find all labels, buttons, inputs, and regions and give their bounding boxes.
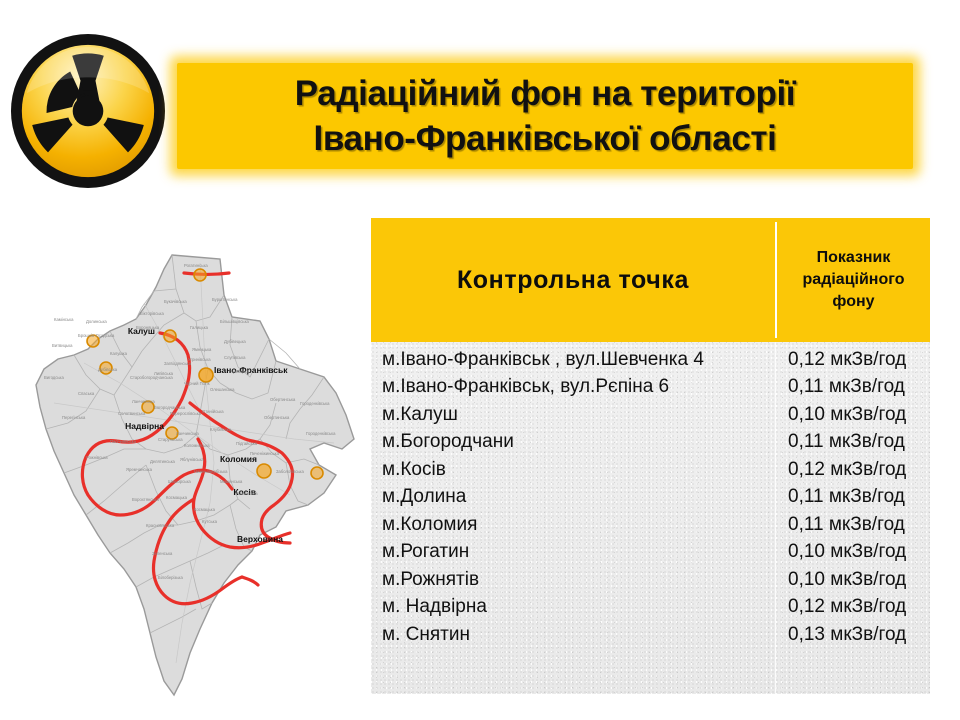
svg-text:Перегінська: Перегінська (62, 415, 86, 420)
svg-text:Вигодська: Вигодська (44, 375, 64, 380)
cell-control-point: м.Івано-Франківськ, вул.Рєпіна 6 (371, 376, 775, 398)
svg-text:Загвіздянська: Загвіздянська (164, 361, 192, 366)
cell-control-point: м. Надвірна (371, 596, 775, 618)
svg-text:Галицька: Галицька (190, 325, 209, 330)
cell-control-point: м.Івано-Франківськ , вул.Шевченка 4 (371, 349, 775, 371)
svg-text:Богородчанська: Богородчанська (154, 405, 186, 410)
svg-text:Вороняцька: Вороняцька (136, 325, 160, 330)
svg-text:Білоберізька: Білоберізька (158, 575, 183, 580)
table-row: м.Богородчани 0,11 мкЗв/год (371, 429, 930, 457)
cell-radiation-value: 0,12 мкЗв/год (775, 459, 930, 481)
cell-radiation-value: 0,10 мкЗв/год (775, 541, 930, 563)
page-title-line-1: Радіаційний фон на території (295, 71, 795, 116)
svg-text:Пасічнянська: Пасічнянська (110, 439, 137, 444)
svg-text:Брошнів-Осадська: Брошнів-Осадська (78, 333, 115, 338)
cell-control-point: м.Рожнятів (371, 569, 775, 591)
svg-text:Ворохтянська: Ворохтянська (132, 497, 159, 502)
svg-text:Яблунівська: Яблунівська (180, 457, 204, 462)
svg-text:Отинійська: Отинійська (202, 409, 224, 414)
page-title-line-2: Івано-Франківської області (314, 116, 777, 161)
cell-control-point: м. Снятин (371, 624, 775, 646)
map-label-ivano-frankivsk: Івано-Франківськ (214, 365, 288, 375)
cell-control-point: м.Косів (371, 459, 775, 481)
svg-text:Спаська: Спаська (78, 391, 95, 396)
svg-text:Кутська: Кутська (202, 519, 218, 524)
cell-radiation-value: 0,11 мкЗв/год (775, 431, 930, 453)
svg-text:Більшівцівська: Більшівцівська (220, 319, 250, 324)
radiation-logo (9, 32, 167, 190)
svg-text:Городенківська: Городенківська (300, 401, 330, 406)
page-title: Радіаційний фон на території Івано-Франк… (177, 63, 913, 169)
svg-text:Букачівська: Букачівська (164, 299, 187, 304)
svg-text:Ланчинська: Ланчинська (176, 431, 199, 436)
map-graphic: Калуш Івано-Франківськ Надвірна Коломия … (24, 243, 366, 705)
svg-text:Обертинська: Обертинська (270, 397, 296, 402)
cell-radiation-value: 0,10 мкЗв/год (775, 404, 930, 426)
region-map: Калуш Івано-Франківськ Надвірна Коломия … (24, 243, 366, 705)
table-row: м.Івано-Франківськ , вул.Шевченка 4 0,12… (371, 346, 930, 374)
table-row: м.Івано-Франківськ, вул.Рєпіна 6 0,11 мк… (371, 374, 930, 402)
svg-text:Чорний Потік: Чорний Потік (184, 381, 210, 386)
svg-text:Бурштинська: Бурштинська (212, 297, 238, 302)
table-row: м.Косів 0,12 мкЗв/год (371, 456, 930, 484)
svg-text:Долинська: Долинська (86, 319, 107, 324)
svg-text:Шешорська: Шешорська (168, 479, 191, 484)
cell-control-point: м.Коломия (371, 514, 775, 536)
svg-text:Старобогородчанська: Старобогородчанська (130, 375, 173, 380)
svg-text:Коломийська: Коломийська (184, 443, 210, 448)
cell-radiation-value: 0,10 мкЗв/год (775, 569, 930, 591)
svg-text:Мишинська: Мишинська (220, 479, 243, 484)
svg-text:Клубівська: Клубівська (210, 427, 232, 432)
radiation-trefoil-icon (9, 32, 167, 190)
svg-text:Яремчанська: Яремчанська (126, 467, 153, 472)
svg-text:Калушка: Калушка (110, 351, 128, 356)
svg-text:Солотвинська: Солотвинська (118, 411, 146, 416)
table-row: м.Калуш 0,10 мкЗв/год (371, 401, 930, 429)
svg-text:Камінська: Камінська (54, 317, 74, 322)
table-row: м.Рожнятів 0,10 мкЗв/год (371, 566, 930, 594)
table-row: м.Долина 0,11 мкЗв/год (371, 484, 930, 512)
cell-control-point: м.Калуш (371, 404, 775, 426)
cell-radiation-value: 0,11 мкЗв/год (775, 514, 930, 536)
table-header-row: Контрольна точка Показник радіаційного ф… (371, 218, 930, 342)
radiation-measurements-table: Контрольна точка Показник радіаційного ф… (371, 218, 930, 690)
svg-text:Нижньовербізька: Нижньовербізька (194, 469, 228, 474)
cell-radiation-value: 0,11 мкЗв/год (775, 376, 930, 398)
map-label-nadvirna: Надвірна (125, 421, 164, 431)
svg-text:Дубівецька: Дубівецька (224, 339, 246, 344)
table-row: м. Надвірна 0,12 мкЗв/год (371, 594, 930, 622)
svg-text:Старуньська: Старуньська (158, 437, 183, 442)
svg-text:Зеленська: Зеленська (152, 551, 173, 556)
column-header-line-3: фону (803, 291, 905, 313)
svg-text:Вікторівська: Вікторівська (140, 311, 164, 316)
svg-text:Угринівська: Угринівська (188, 357, 211, 362)
svg-text:Тлумацька: Тлумацька (228, 369, 250, 374)
svg-text:Заболотівська: Заболотівська (276, 469, 304, 474)
svg-text:Красноїльська: Красноїльська (146, 523, 175, 528)
map-label-verkhovyna: Верховина (237, 534, 283, 544)
svg-text:Ямницька: Ямницька (192, 347, 212, 352)
svg-text:Печеніжинська: Печеніжинська (250, 451, 280, 456)
svg-text:Городенківська: Городенківська (306, 431, 336, 436)
table-body: м.Івано-Франківськ , вул.Шевченка 4 0,12… (371, 342, 930, 694)
svg-text:Рожнівська: Рожнівська (236, 491, 258, 496)
svg-text:Витвицька: Витвицька (52, 343, 73, 348)
cell-radiation-value: 0,13 мкЗв/год (775, 624, 930, 646)
svg-text:Ланчинська: Ланчинська (132, 399, 155, 404)
svg-text:Дубівська: Дубівська (98, 367, 118, 372)
table-row: м.Рогатин 0,10 мкЗв/год (371, 539, 930, 567)
cell-control-point: м.Рогатин (371, 541, 775, 563)
column-header-line-2: радіаційного (803, 269, 905, 291)
table-row: м.Коломия 0,11 мкЗв/год (371, 511, 930, 539)
cell-control-point: м.Богородчани (371, 431, 775, 453)
svg-text:Обертинська: Обертинська (264, 415, 290, 420)
cell-radiation-value: 0,12 мкЗв/год (775, 349, 930, 371)
cell-radiation-value: 0,11 мкЗв/год (775, 486, 930, 508)
svg-text:Рожнівська: Рожнівська (86, 455, 108, 460)
column-header-line-1: Показник (803, 247, 905, 269)
svg-text:Олешанська: Олешанська (210, 387, 235, 392)
svg-text:Слупівська: Слупівська (224, 355, 246, 360)
table-row: м. Снятин 0,13 мкЗв/год (371, 621, 930, 649)
svg-text:Космацька: Космацька (166, 495, 188, 500)
svg-text:Космацька: Космацька (194, 507, 216, 512)
svg-text:Рогатинська: Рогатинська (184, 263, 208, 268)
svg-text:Підгайська: Підгайська (236, 441, 258, 446)
column-header-control-point: Контрольна точка (371, 218, 775, 342)
cell-radiation-value: 0,12 мкЗв/год (775, 596, 930, 618)
column-header-radiation-value: Показник радіаційного фону (777, 218, 930, 342)
svg-text:Перерослівська: Перерослівська (170, 411, 201, 416)
svg-text:Делятинська: Делятинська (150, 459, 176, 464)
cell-control-point: м.Долина (371, 486, 775, 508)
